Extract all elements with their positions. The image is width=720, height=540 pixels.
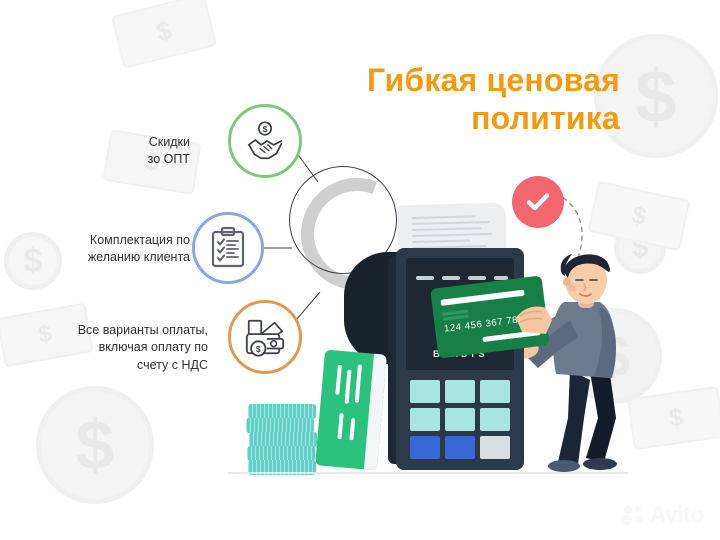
person-shoe-front (583, 458, 617, 470)
ground-line (228, 472, 628, 474)
clipboard-checklist-icon (208, 226, 248, 270)
status-badge-approved (512, 176, 564, 228)
feature-icon-circle-payment-options[interactable]: $ (228, 300, 302, 374)
feature-icon-circle-bulk-discounts[interactable]: $ (228, 104, 302, 178)
keypad-key[interactable] (480, 408, 510, 431)
feature-label-line-3: счету с НДС (56, 357, 208, 374)
person-hand-on-card (512, 300, 556, 340)
feature-label-bulk-discounts: Скидки зо ОПТ (100, 134, 190, 169)
svg-text:$: $ (256, 344, 261, 354)
feature-icon-circle-custom-configuration[interactable] (192, 212, 264, 284)
keypad-key-cancel[interactable] (480, 436, 510, 459)
connector-line-3 (296, 292, 320, 320)
avito-watermark: Avito (621, 501, 704, 528)
standing-bank-card (315, 350, 387, 471)
feature-label-line-1: Комплектация по (58, 232, 190, 249)
promo-banner: $ $ $ $ $ $ $ $ $ $ Гибкая ц (0, 0, 720, 540)
feature-label-custom-configuration: Комплектация по желанию клиента (58, 232, 190, 267)
card-bar (355, 364, 362, 402)
coin-row (247, 446, 315, 461)
coin-row (248, 404, 316, 419)
person-cheek (568, 284, 575, 291)
feature-label-payment-options: Все варианты оплаты, включая оплату по с… (56, 322, 208, 374)
handshake-money-icon: $ (242, 118, 288, 164)
keypad-key[interactable] (410, 380, 440, 403)
keypad-key-confirm[interactable] (445, 436, 475, 459)
card-bar (349, 418, 355, 440)
avito-brand-text: Avito (650, 501, 704, 528)
terminal-keypad[interactable] (410, 380, 510, 459)
coin-row (246, 418, 314, 433)
check-icon (523, 187, 553, 217)
keypad-key[interactable] (410, 408, 440, 431)
keypad-key-confirm[interactable] (410, 436, 440, 459)
feature-label-line-2: включая оплату по (56, 339, 208, 356)
feature-label-line-1: Все варианты оплаты, (56, 322, 208, 339)
person-leg-back (558, 370, 590, 464)
keypad-key[interactable] (445, 408, 475, 431)
coin-row (249, 432, 317, 447)
card-bar (335, 365, 342, 395)
person-leg-front (586, 372, 616, 462)
person-ear (563, 278, 571, 286)
wallet-money-icon: $ (242, 315, 288, 359)
avito-logo-icon (621, 503, 645, 527)
keypad-key[interactable] (445, 380, 475, 403)
feature-label-line-2: зо ОПТ (100, 151, 190, 168)
card-bar (337, 413, 343, 439)
card-bar (345, 370, 352, 404)
svg-text:$: $ (263, 124, 268, 134)
keypad-key[interactable] (480, 380, 510, 403)
person-shoe-back (548, 460, 580, 472)
card-chip-line (443, 315, 469, 321)
feature-label-line-1: Скидки (100, 134, 190, 151)
feature-label-line-2: желанию клиента (58, 249, 190, 266)
